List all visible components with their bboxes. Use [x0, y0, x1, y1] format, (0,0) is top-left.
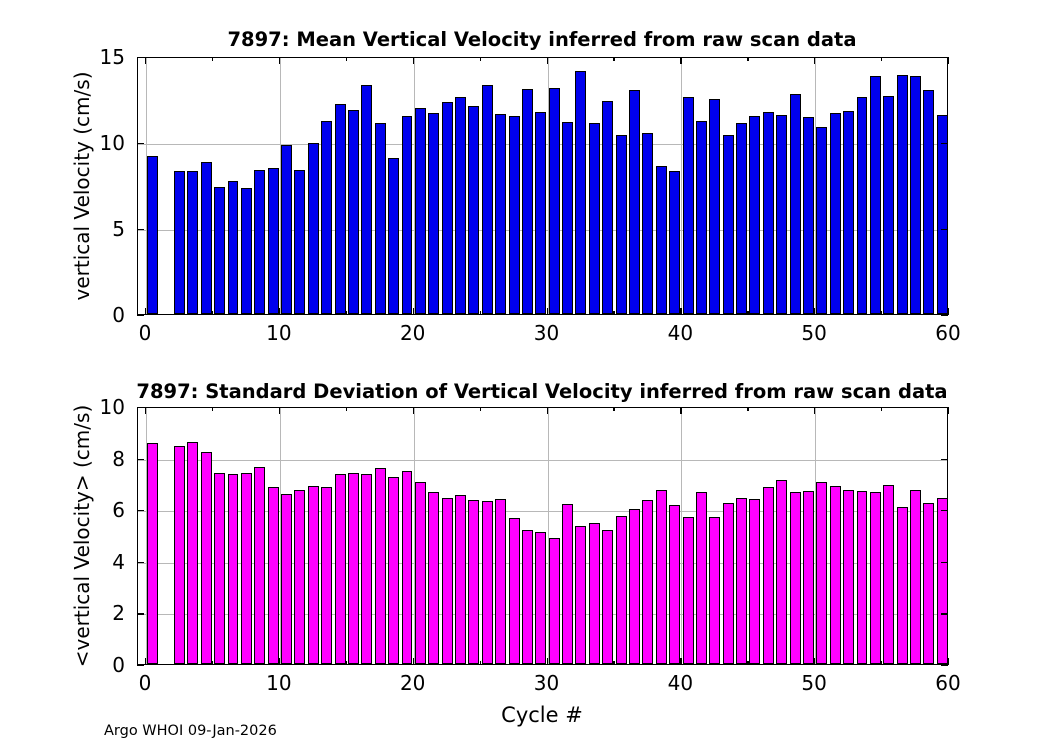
x-tick	[346, 661, 347, 665]
y-axis-label-top: vertical Velocity (cm/s)	[70, 72, 94, 301]
bar	[348, 473, 359, 664]
bar	[268, 487, 279, 664]
x-tick	[413, 407, 414, 414]
bar	[656, 166, 667, 314]
x-tick	[279, 407, 280, 414]
y-tick	[137, 459, 144, 460]
bar	[294, 490, 305, 664]
x-tick	[145, 57, 146, 64]
y-tick-label: 6	[112, 498, 125, 522]
bar	[723, 135, 734, 314]
bar	[375, 468, 386, 664]
bar	[482, 501, 493, 664]
bar	[455, 495, 466, 664]
bar	[616, 135, 627, 314]
x-tick	[814, 407, 815, 414]
bar	[816, 127, 827, 314]
y-tick	[137, 143, 144, 144]
bar	[736, 498, 747, 664]
y-tick-label: 2	[112, 601, 125, 625]
bar	[790, 94, 801, 314]
bar	[361, 474, 372, 664]
bar	[857, 97, 868, 314]
bar	[696, 492, 707, 664]
bar	[683, 97, 694, 314]
x-tick	[747, 57, 748, 61]
x-tick	[613, 311, 614, 315]
bar	[375, 123, 386, 314]
y-axis-label-bottom: <vertical Velocity> (cm/s)	[70, 405, 94, 668]
y-tick-label: 15	[100, 45, 125, 69]
x-tick	[480, 661, 481, 665]
x-tick	[547, 308, 548, 315]
plot-frame-top	[137, 57, 948, 315]
bar	[736, 123, 747, 314]
bar	[535, 532, 546, 664]
bar	[348, 110, 359, 314]
bar	[616, 516, 627, 664]
bar	[790, 492, 801, 664]
x-tick	[145, 658, 146, 665]
x-tick	[547, 57, 548, 64]
bar	[415, 482, 426, 664]
y-tick-label: 5	[112, 217, 125, 241]
y-tick	[137, 562, 144, 563]
bar	[763, 487, 774, 664]
y-tick	[137, 407, 144, 408]
bar	[709, 517, 720, 664]
bar	[910, 490, 921, 664]
x-tick	[413, 57, 414, 64]
x-tick	[413, 308, 414, 315]
x-tick	[881, 57, 882, 61]
x-tick	[279, 57, 280, 64]
bar	[763, 112, 774, 314]
y-tick-label: 8	[112, 447, 125, 471]
x-tick	[613, 407, 614, 411]
bar	[910, 76, 921, 314]
y-tick-label: 10	[100, 395, 125, 419]
x-tick	[948, 308, 949, 315]
x-tick	[279, 308, 280, 315]
x-tick	[881, 311, 882, 315]
bar	[535, 112, 546, 314]
bar	[776, 115, 787, 314]
y-tick	[941, 510, 948, 511]
y-tick	[137, 613, 144, 614]
x-tick-label: 10	[266, 671, 291, 695]
bar	[937, 115, 948, 314]
bar	[870, 492, 881, 664]
x-tick	[881, 661, 882, 665]
y-tick	[941, 315, 948, 316]
bar	[897, 75, 908, 314]
bar	[549, 538, 560, 664]
x-tick	[480, 311, 481, 315]
bar	[388, 158, 399, 314]
bar	[883, 485, 894, 664]
x-tick-label: 0	[139, 321, 152, 345]
bar	[294, 170, 305, 314]
y-tick	[941, 407, 948, 408]
x-tick-label: 50	[801, 671, 826, 695]
bar	[589, 523, 600, 664]
x-axis-label-bottom: Cycle #	[501, 703, 583, 727]
bar	[696, 121, 707, 314]
bar	[803, 491, 814, 664]
bar	[816, 482, 827, 664]
bar	[214, 473, 225, 664]
bar	[281, 145, 292, 314]
bar	[549, 88, 560, 314]
x-tick	[814, 658, 815, 665]
x-tick-label: 0	[139, 671, 152, 695]
bar	[402, 116, 413, 314]
bar	[468, 106, 479, 314]
x-tick	[346, 311, 347, 315]
bar	[575, 71, 586, 314]
bar	[509, 518, 520, 664]
bar	[803, 117, 814, 314]
x-tick	[279, 658, 280, 665]
y-tick	[941, 665, 948, 666]
bar	[589, 123, 600, 314]
x-tick	[413, 658, 414, 665]
bar	[843, 111, 854, 314]
bar	[455, 97, 466, 314]
y-tick	[941, 229, 948, 230]
y-tick	[941, 57, 948, 58]
bar	[201, 452, 212, 664]
bar	[468, 500, 479, 664]
bar	[187, 442, 198, 664]
bar	[174, 446, 185, 664]
bar	[335, 474, 346, 664]
y-tick	[941, 143, 948, 144]
bar	[857, 491, 868, 664]
x-tick-label: 40	[668, 321, 693, 345]
bar	[830, 113, 841, 314]
x-tick	[212, 311, 213, 315]
x-tick	[881, 407, 882, 411]
bar	[602, 530, 613, 664]
x-tick	[680, 407, 681, 414]
bar	[923, 503, 934, 664]
bar	[428, 492, 439, 664]
x-tick	[212, 407, 213, 411]
bar	[482, 85, 493, 314]
x-tick	[212, 57, 213, 61]
bar	[656, 490, 667, 664]
y-tick	[137, 229, 144, 230]
bar	[669, 505, 680, 664]
bar	[843, 490, 854, 664]
x-tick	[480, 407, 481, 411]
x-tick	[747, 661, 748, 665]
bar	[830, 486, 841, 664]
bar	[147, 443, 158, 664]
x-tick	[547, 407, 548, 414]
bar	[522, 530, 533, 664]
bar	[937, 498, 948, 664]
bar	[308, 486, 319, 664]
bar	[629, 90, 640, 314]
x-tick	[547, 658, 548, 665]
bar	[415, 108, 426, 314]
bar	[709, 99, 720, 314]
bar	[361, 85, 372, 314]
bar	[575, 526, 586, 664]
bar	[228, 474, 239, 664]
x-tick	[346, 57, 347, 61]
x-tick-label: 30	[534, 671, 559, 695]
x-tick	[613, 57, 614, 61]
x-tick-label: 60	[935, 321, 960, 345]
y-tick	[137, 510, 144, 511]
bar	[723, 503, 734, 664]
bar	[214, 187, 225, 314]
bar	[562, 122, 573, 314]
x-tick-label: 20	[400, 321, 425, 345]
chart-title-bottom: 7897: Standard Deviation of Vertical Vel…	[136, 380, 947, 403]
bar	[241, 188, 252, 314]
bar	[629, 509, 640, 664]
bar	[174, 171, 185, 314]
y-tick	[137, 665, 144, 666]
x-tick	[145, 308, 146, 315]
footer-credit: Argo WHOI 09-Jan-2026	[104, 723, 277, 739]
y-tick	[941, 613, 948, 614]
bar	[428, 113, 439, 314]
x-tick	[948, 407, 949, 414]
bars-bottom	[138, 408, 947, 664]
x-tick-label: 10	[266, 321, 291, 345]
x-tick	[480, 57, 481, 61]
x-tick-label: 50	[801, 321, 826, 345]
bars-top	[138, 58, 947, 314]
x-tick	[346, 407, 347, 411]
y-tick-label: 10	[100, 131, 125, 155]
bar	[495, 499, 506, 664]
x-tick	[212, 661, 213, 665]
bar	[281, 494, 292, 664]
x-tick-label: 40	[668, 671, 693, 695]
plot-frame-bottom	[137, 407, 948, 665]
bar	[522, 89, 533, 314]
x-tick	[747, 407, 748, 411]
bar	[923, 90, 934, 314]
bar	[870, 76, 881, 314]
bar	[776, 480, 787, 664]
bar	[442, 102, 453, 314]
bar	[308, 143, 319, 314]
bar	[562, 504, 573, 664]
x-tick	[145, 407, 146, 414]
y-tick-label: 0	[112, 653, 125, 677]
bar	[669, 171, 680, 314]
bar	[749, 116, 760, 314]
bar	[442, 498, 453, 664]
x-tick-label: 20	[400, 671, 425, 695]
bar	[509, 116, 520, 314]
bar	[241, 473, 252, 664]
bar	[495, 114, 506, 314]
x-tick	[747, 311, 748, 315]
y-tick-label: 4	[112, 550, 125, 574]
bar	[335, 104, 346, 314]
bar	[321, 121, 332, 314]
bar	[749, 499, 760, 664]
bar	[228, 181, 239, 314]
bar	[268, 168, 279, 314]
bar	[402, 471, 413, 665]
bar	[883, 96, 894, 314]
y-tick	[941, 459, 948, 460]
bar	[388, 477, 399, 664]
chart-title-top: 7897: Mean Vertical Velocity inferred fr…	[227, 28, 856, 51]
chart-mean-vertical-velocity	[137, 57, 948, 315]
x-tick	[814, 57, 815, 64]
bar	[897, 507, 908, 664]
bar	[147, 156, 158, 314]
bar	[187, 171, 198, 314]
y-tick	[941, 562, 948, 563]
x-tick	[814, 308, 815, 315]
x-tick	[948, 57, 949, 64]
chart-std-vertical-velocity	[137, 407, 948, 665]
x-tick	[680, 658, 681, 665]
x-tick	[680, 308, 681, 315]
figure: 0102030405060 051015 7897: Mean Vertical…	[0, 0, 1050, 750]
y-tick	[137, 315, 144, 316]
y-tick	[137, 57, 144, 58]
bar	[683, 517, 694, 664]
x-tick-label: 60	[935, 671, 960, 695]
x-tick-label: 30	[534, 321, 559, 345]
bar	[602, 101, 613, 314]
x-tick	[680, 57, 681, 64]
bar	[254, 467, 265, 664]
bar	[201, 162, 212, 314]
x-tick	[613, 661, 614, 665]
bar	[642, 500, 653, 664]
bar	[321, 487, 332, 664]
x-tick	[948, 658, 949, 665]
bar	[254, 170, 265, 314]
y-tick-label: 0	[112, 303, 125, 327]
bar	[642, 133, 653, 314]
